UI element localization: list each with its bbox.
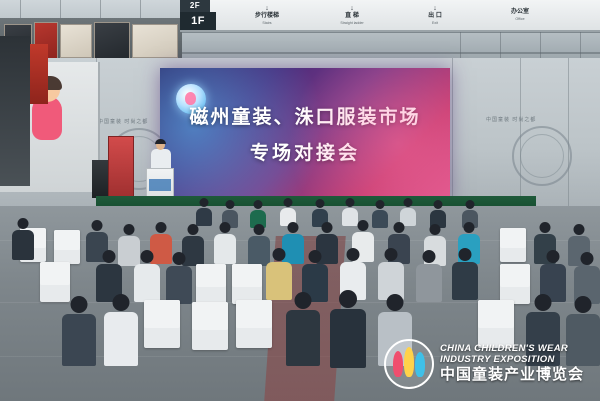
audience-member — [416, 250, 442, 302]
sign-cell-office: 办公室 Office — [480, 0, 560, 30]
sign-label-en: Stairs — [262, 21, 271, 25]
audience-chair — [500, 228, 526, 262]
audience-chair — [192, 302, 228, 350]
sign-label-cn: 步行楼梯 — [255, 13, 279, 21]
audience-member — [12, 218, 34, 260]
sign-label-cn: 办公室 — [511, 9, 529, 17]
sign-label-cn: 直 梯 — [345, 13, 359, 21]
sign-cell-stairs: ↓ 步行楼梯 Stairs — [224, 0, 310, 30]
conference-photo: ↓ 步行楼梯 Stairs ↓ 直 梯 Straight ladder ↓ 出 … — [0, 0, 600, 401]
left-red-banner — [30, 44, 48, 104]
red-roll-up-banner — [108, 136, 134, 200]
audience-chair — [236, 300, 272, 348]
wall-emblem-right — [512, 126, 572, 186]
audience-member — [452, 248, 478, 300]
left-dark-panel — [0, 36, 30, 186]
three-figures-circle-logo-icon — [384, 339, 434, 389]
audience-chair — [196, 264, 226, 304]
audience-member — [166, 252, 192, 304]
sign-label-cn: 出 口 — [428, 13, 442, 21]
audience-member — [372, 200, 388, 228]
expo-watermark: CHINA CHILDREN'S WEAR INDUSTRY EXPOSITIO… — [384, 333, 594, 395]
screen-title-line1: 磁州童装、洙口服装市场 — [160, 102, 450, 129]
watermark-chinese: 中国童装产业博览会 — [440, 366, 584, 383]
audience-chair — [232, 264, 262, 304]
wall-poster — [94, 22, 130, 60]
audience-member — [286, 292, 320, 366]
audience-member — [196, 198, 212, 226]
stage-loudspeaker — [92, 160, 108, 198]
watermark-text: CHINA CHILDREN'S WEAR INDUSTRY EXPOSITIO… — [440, 344, 584, 383]
overhead-signage-band: ↓ 步行楼梯 Stairs ↓ 直 梯 Straight ladder ↓ 出 … — [180, 0, 600, 32]
sign-label-en: Office — [515, 17, 524, 21]
sign-cell-exit: ↓ 出 口 Exit — [396, 0, 474, 30]
floor-badge-1f: 1F — [180, 12, 216, 30]
audience-member — [330, 290, 366, 368]
floor-badge-2f: 2F — [180, 0, 210, 12]
audience-chair — [144, 300, 180, 348]
wall-text-left: 中国童装 时尚之都 — [98, 118, 148, 125]
audience-chair — [54, 230, 80, 264]
screen-title-line2: 专场对接会 — [160, 138, 450, 165]
wall-poster — [60, 24, 92, 58]
led-stage-screen: 磁州童装、洙口服装市场 专场对接会 — [160, 68, 450, 203]
audience-member — [104, 294, 138, 366]
sign-label-en: Straight ladder — [340, 21, 363, 25]
sign-label-en: Exit — [432, 21, 438, 25]
audience-member — [62, 296, 96, 366]
audience-member — [378, 248, 404, 300]
sign-cell-elevator: ↓ 直 梯 Straight ladder — [312, 0, 392, 30]
wall-poster — [132, 24, 178, 58]
audience-member — [214, 222, 236, 264]
wall-text-right: 中国童装 时尚之都 — [486, 116, 536, 123]
